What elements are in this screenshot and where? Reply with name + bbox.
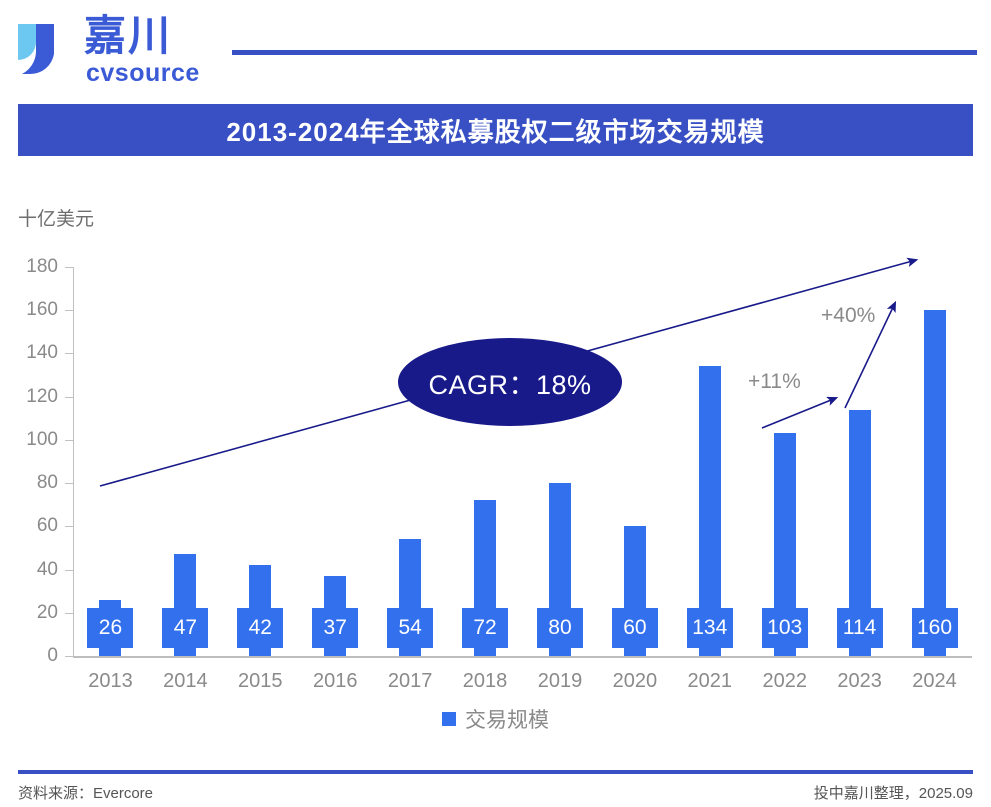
brand-logo-cn: 嘉川 bbox=[84, 10, 172, 62]
chart-container: 十亿美元 02040608010012014016018026201347201… bbox=[0, 156, 991, 766]
growth-2022-label: +11% bbox=[748, 370, 801, 394]
chart-title-band: 2013-2024年全球私募股权二级市场交易规模 bbox=[18, 104, 973, 156]
chart-legend: 交易规模 bbox=[0, 704, 991, 734]
footer-divider bbox=[18, 770, 973, 774]
header-divider bbox=[232, 50, 977, 55]
footer-credit: 投中嘉川整理，2025.09 bbox=[814, 782, 973, 803]
cagr-callout-label: CAGR：18% bbox=[428, 363, 591, 402]
legend-swatch-transaction-volume bbox=[442, 712, 456, 726]
page-header: 嘉川 cvsource bbox=[0, 0, 991, 96]
footer-source: 资料来源：Evercore bbox=[18, 782, 153, 803]
plot-area: 0204060801001201401601802620134720144220… bbox=[0, 156, 991, 766]
brand-logo-en: cvsource bbox=[86, 60, 200, 86]
annotation-overlay bbox=[0, 156, 991, 766]
growth-2024-label: +40% bbox=[821, 304, 875, 328]
growth-2022-arrow bbox=[762, 398, 836, 428]
page-title: 2013-2024年全球私募股权二级市场交易规模 bbox=[226, 112, 764, 149]
brand-logo: 嘉川 cvsource bbox=[14, 10, 214, 86]
legend-label-transaction-volume: 交易规模 bbox=[465, 704, 549, 734]
cvsource-logo-mark bbox=[14, 16, 76, 78]
cagr-callout: CAGR：18% bbox=[398, 338, 622, 426]
